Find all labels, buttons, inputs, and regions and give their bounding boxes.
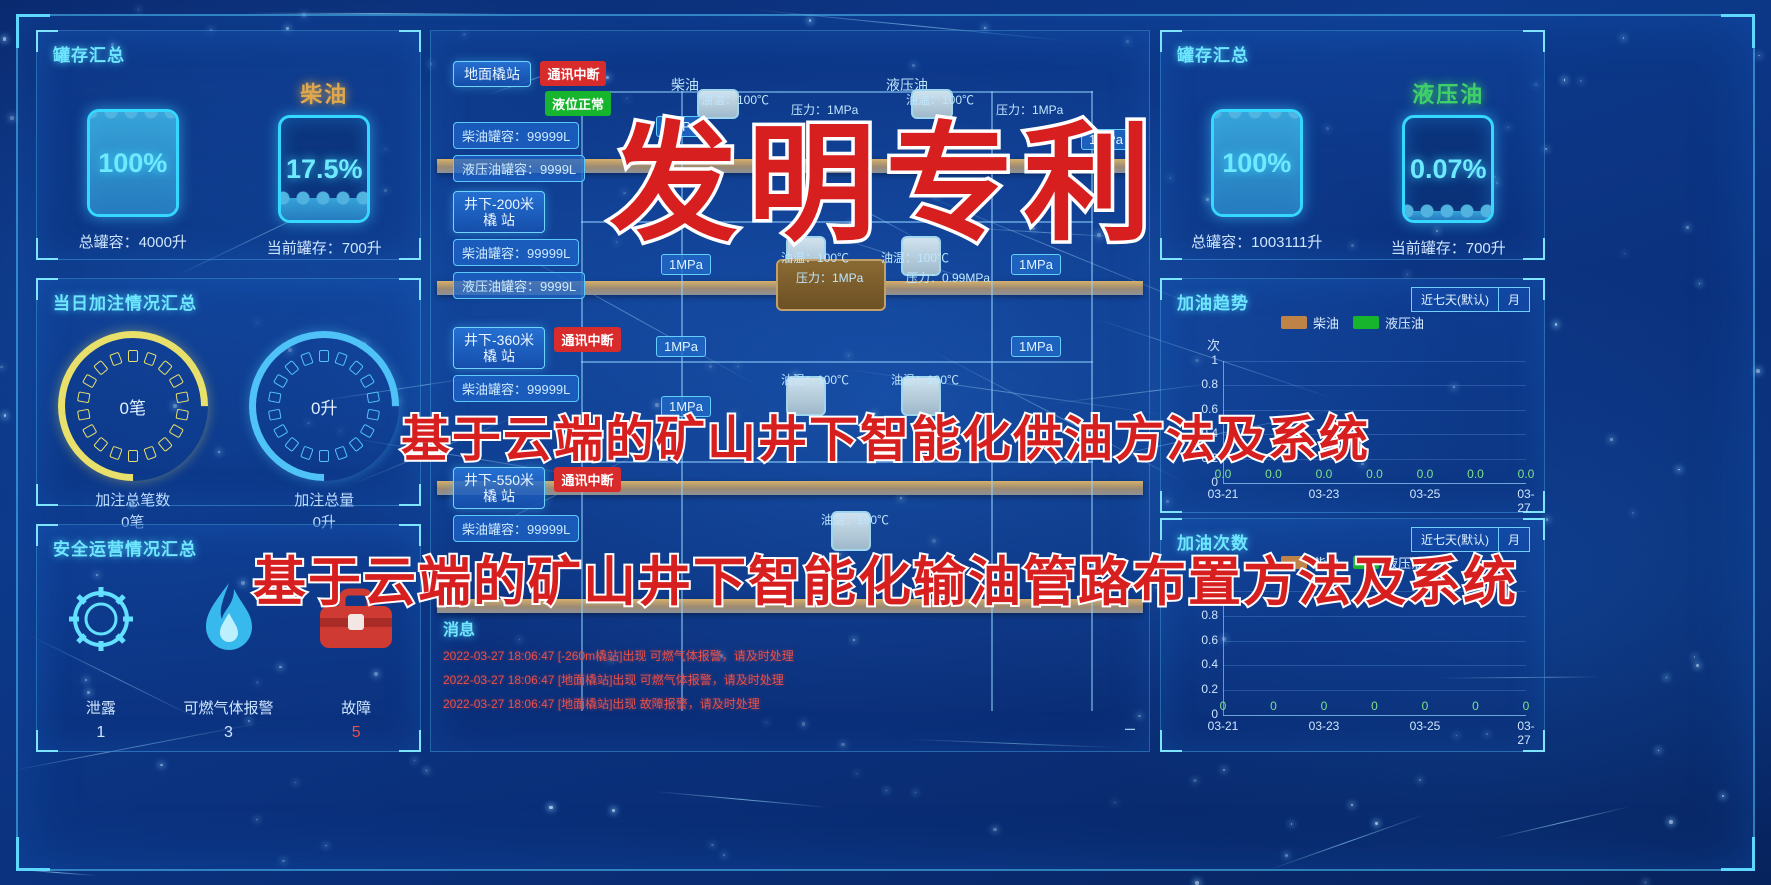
chart-y-tick: 0.4 — [1197, 657, 1218, 671]
chart-point-label: 0 — [1523, 699, 1530, 713]
panel-title: 安全运营情况汇总 — [53, 535, 197, 560]
ring-gauge: 0笔 — [58, 331, 208, 481]
chart-x-tick: 03-23 — [1309, 719, 1340, 733]
station-minus-550[interactable]: 井下-550米 橇 站 通讯中断 柴油罐容：99999L — [453, 467, 621, 542]
chart-point-label: 0.0 — [1467, 467, 1484, 481]
panel-refuel-trend-chart: 加油趋势 近七天(默认) 月 柴油 液压油 次 10.80.60.40.200.… — [1160, 278, 1545, 513]
status-badge: 液位正常 — [545, 91, 611, 116]
safety-item-leak: 泄露 1 — [37, 577, 165, 742]
panel-title: 罐存汇总 — [53, 41, 125, 66]
vessel-readout: 油温：100℃ — [891, 371, 959, 388]
tank-gauge-row: 100% 总罐容：1003111升 液压油 0.07% 当前罐存：700升 — [1161, 77, 1544, 258]
station-tag: 柴油罐容：99999L — [453, 122, 579, 149]
message-log: 消息 2022-03-27 18:06:47 [-260m橇站]出现 可燃气体报… — [443, 616, 833, 736]
safety-item-count: 5 — [352, 724, 361, 742]
chart-y-tick: 0.2 — [1197, 682, 1218, 696]
message-log-line: 2022-03-27 18:06:47 [地面橇站]出现 故障报警，请及时处理 — [443, 695, 833, 712]
frame-corner-icon — [1721, 837, 1755, 871]
safety-item-count: 1 — [96, 724, 105, 742]
legend-swatch — [1353, 316, 1379, 329]
zoom-out-icon[interactable]: – — [1125, 718, 1135, 739]
ring-gauge: 0升 — [249, 331, 399, 481]
tank-caption: 总罐容：4000升 — [79, 231, 187, 252]
tank-caption: 当前罐存：700升 — [1391, 237, 1506, 258]
chart-y-tick: 0.8 — [1197, 377, 1218, 391]
tank-kind-label: 液压油 — [1412, 77, 1484, 109]
tank-percent: 17.5% — [281, 118, 367, 220]
station-name: 井下-550米 橇 站 — [453, 467, 545, 509]
chart-point-label: 0 — [1472, 699, 1479, 713]
chart-y-tick: 1 — [1197, 353, 1218, 367]
ring-gauge-volume: 0升 加注总量 0升 — [229, 331, 421, 532]
status-badge: 通讯中断 — [554, 327, 620, 352]
station-name: 井下-200米 橇 站 — [453, 191, 545, 233]
chart-x-tick: 03-25 — [1410, 487, 1441, 501]
period-button-month[interactable]: 月 — [1499, 287, 1530, 312]
tank-gauge: 液压油 0.07% 当前罐存：700升 — [1353, 77, 1545, 258]
leak-icon — [59, 577, 143, 661]
vessel-readout: 压力：1MPa — [796, 269, 863, 286]
panel-title: 罐存汇总 — [1177, 41, 1249, 66]
tank-level-indicator: 17.5% — [278, 115, 370, 223]
watermark-line-1: 基于云端的矿山井下智能化供油方法及系统 — [401, 400, 1370, 471]
vessel-readout: 油温：100℃ — [781, 371, 849, 388]
station-tag: 液压油罐容：9999L — [453, 272, 585, 299]
period-selector: 近七天(默认) 月 — [1411, 287, 1530, 312]
tank-level-indicator: 100% — [1211, 109, 1303, 217]
chart-point-label: 0 — [1270, 699, 1277, 713]
message-log-title: 消息 — [443, 616, 833, 640]
chart-x-tick: 03-25 — [1410, 719, 1441, 733]
watermark-line-2: 基于云端的矿山井下智能化输油管路布置方法及系统 — [253, 540, 1518, 616]
ring-label: 加注总笔数 — [95, 491, 170, 511]
ring-label: 加注总量 — [294, 491, 354, 511]
safety-item-label: 可燃气体报警 — [184, 697, 274, 718]
tank-percent: 0.07% — [1405, 118, 1491, 220]
panel-corner-icon — [1160, 491, 1182, 513]
chart-x-tick: 03-21 — [1208, 487, 1239, 501]
tank-caption: 当前罐存：700升 — [267, 237, 382, 258]
station-name: 井下-360米 橇 站 — [453, 327, 545, 369]
station-tag: 柴油罐容：99999L — [453, 375, 579, 402]
ring-gauge-row: 0笔 加注总笔数 0笔 0升 加注总量 0升 — [37, 331, 420, 532]
tank-kind-label: 柴油 — [300, 77, 348, 109]
chart-x-axis — [1223, 715, 1526, 716]
message-log-line: 2022-03-27 18:06:47 [地面橇站]出现 可燃气体报警，请及时处… — [443, 671, 833, 688]
chart-x-axis — [1223, 483, 1526, 484]
station-tag: 柴油罐容：99999L — [453, 515, 579, 542]
chart-point-label: 0.0 — [1417, 467, 1434, 481]
chart-point-label: 0 — [1371, 699, 1378, 713]
chart-gridline — [1223, 665, 1526, 666]
safety-item-label: 故障 — [341, 697, 371, 718]
station-name: 地面橇站 — [453, 61, 531, 87]
panel-corner-icon — [1160, 730, 1182, 752]
safety-item-label: 泄露 — [86, 697, 116, 718]
chart-gridline — [1223, 361, 1526, 362]
legend-label: 柴油 — [1313, 313, 1339, 332]
tank-caption: 总罐容：1003111升 — [1191, 231, 1322, 252]
legend-label: 液压油 — [1385, 313, 1424, 332]
panel-tank-summary-diesel: 罐存汇总 100% 总罐容：4000升 柴油 17.5% 当前罐存：700升 — [36, 30, 421, 260]
legend-swatch — [1281, 316, 1307, 329]
chart-point-label: 0.0 — [1518, 467, 1535, 481]
tank-level-indicator: 0.07% — [1402, 115, 1494, 223]
chart-y-axis-label: 次 — [1207, 335, 1220, 354]
chart-x-tick: 03-23 — [1309, 487, 1340, 501]
chart-title: 加油趋势 — [1177, 289, 1249, 314]
station-minus-360[interactable]: 井下-360米 橇 站 通讯中断 柴油罐容：99999L — [453, 327, 621, 402]
tank-percent: 100% — [90, 112, 176, 214]
vessel-readout: 压力：0.99MPa — [906, 269, 990, 286]
legend-item-diesel[interactable]: 柴油 — [1281, 313, 1339, 332]
tank-level-indicator: 100% — [87, 109, 179, 217]
tank-gauge-row: 100% 总罐容：4000升 柴油 17.5% 当前罐存：700升 — [37, 77, 420, 258]
chart-y-tick: 0.6 — [1197, 633, 1218, 647]
frame-corner-icon — [16, 837, 50, 871]
chart-point-label: 0 — [1422, 699, 1429, 713]
panel-corner-icon — [399, 30, 421, 52]
pressure-tag: 1MPa — [1011, 336, 1061, 357]
panel-today-refuel-summary: 当日加注情况汇总 0笔 加注总笔数 0笔 0升 加注总量 0升 — [36, 278, 421, 506]
pressure-tag: 1MPa — [656, 336, 706, 357]
station-minus-200[interactable]: 井下-200米 橇 站 柴油罐容：99999L 液压油罐容：9999L — [453, 191, 585, 299]
panel-corner-icon — [1523, 30, 1545, 52]
panel-corner-icon — [399, 278, 421, 300]
chart-point-label: 0 — [1220, 699, 1227, 713]
chart-x-tick: 03-27 — [1517, 719, 1534, 747]
tank-gauge: 柴油 17.5% 当前罐存：700升 — [229, 77, 421, 258]
chart-x-tick: 03-21 — [1208, 719, 1239, 733]
panel-tank-summary-hydraulic: 罐存汇总 100% 总罐容：1003111升 液压油 0.07% 当前罐存：70… — [1160, 30, 1545, 260]
dashboard-screen: 罐存汇总 100% 总罐容：4000升 柴油 17.5% 当前罐存：700升 — [0, 0, 1771, 885]
chart-x-tick: 03-27 — [1517, 487, 1534, 515]
station-tag: 柴油罐容：99999L — [453, 239, 579, 266]
tank-percent: 100% — [1214, 112, 1300, 214]
chart-gridline — [1223, 385, 1526, 386]
ring-gauge-count: 0笔 加注总笔数 0笔 — [37, 331, 229, 532]
pipe-horizontal — [581, 361, 1093, 363]
station-surface[interactable]: 地面橇站 通讯中断 液位正常 柴油罐容：99999L 液压油罐容：9999L — [453, 61, 611, 182]
chart-gridline — [1223, 641, 1526, 642]
panel-title: 当日加注情况汇总 — [53, 289, 197, 314]
period-button-week[interactable]: 近七天(默认) — [1411, 287, 1499, 312]
safety-item-count: 3 — [224, 724, 233, 742]
message-log-line: 2022-03-27 18:06:47 [-260m橇站]出现 可燃气体报警，请… — [443, 647, 833, 664]
tank-gauge: 100% 总罐容：4000升 — [37, 77, 229, 258]
chart-legend: 柴油 液压油 — [1281, 313, 1424, 332]
status-badge: 通讯中断 — [540, 61, 606, 86]
frame-corner-icon — [1721, 14, 1755, 48]
vessel-readout: 油温：100℃ — [821, 511, 889, 528]
chart-gridline — [1223, 690, 1526, 691]
station-tag: 液压油罐容：9999L — [453, 155, 585, 182]
chart-point-label: 0 — [1321, 699, 1328, 713]
legend-item-hydraulic[interactable]: 液压油 — [1353, 313, 1424, 332]
tank-gauge: 100% 总罐容：1003111升 — [1161, 77, 1353, 258]
watermark-headline: 发明专利 — [609, 80, 1161, 265]
